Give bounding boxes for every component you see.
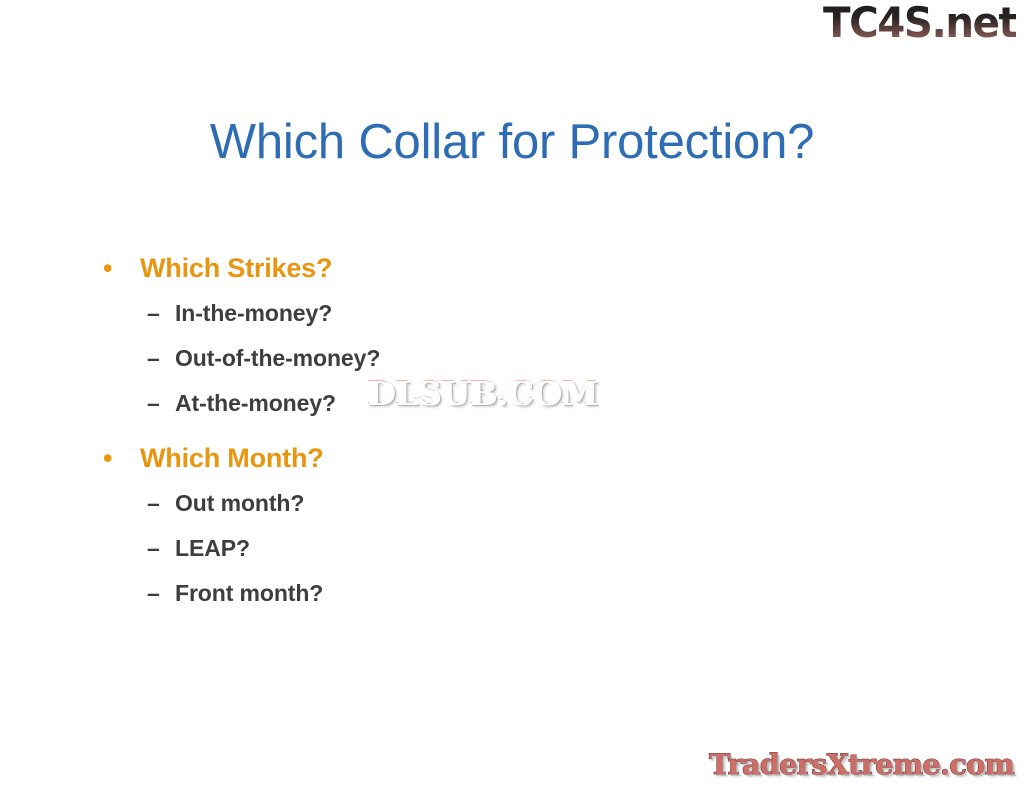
bullet-dash-icon: – <box>147 291 165 336</box>
bullet-heading-which-month: • Which Month? <box>0 435 1024 481</box>
presentation-slide: TC4S.net Which Collar for Protection? • … <box>0 0 1024 791</box>
bullet-dash-icon: – <box>147 526 165 571</box>
list-item: – In-the-money? <box>0 291 1024 336</box>
bullet-dash-icon: – <box>147 336 165 381</box>
tc4s-brand-logo: TC4S.net <box>823 0 1016 46</box>
dlsub-watermark: DLSUB.COM <box>366 374 597 412</box>
bullet-list: • Which Strikes? – In-the-money? – Out-o… <box>0 245 1024 616</box>
bullet-heading-which-strikes: • Which Strikes? <box>0 245 1024 291</box>
bullet-dash-icon: – <box>147 481 165 526</box>
list-item-label: Front month? <box>175 580 323 606</box>
tradersxtreme-watermark: TradersXtreme.com <box>709 748 1014 782</box>
list-item-label: In-the-money? <box>175 300 332 326</box>
group-spacer <box>0 426 1024 435</box>
list-item-label: Out month? <box>175 490 304 516</box>
list-item-label: At-the-money? <box>175 390 336 416</box>
list-item: – LEAP? <box>0 526 1024 571</box>
list-item: – Out month? <box>0 481 1024 526</box>
page-title: Which Collar for Protection? <box>0 113 1024 171</box>
list-item-label: Out-of-the-money? <box>175 345 380 371</box>
bullet-dash-icon: – <box>147 381 165 426</box>
bullet-dot-icon: • <box>103 245 117 291</box>
bullet-dot-icon: • <box>103 435 117 481</box>
list-item: – Front month? <box>0 571 1024 616</box>
list-item-label: LEAP? <box>175 535 250 561</box>
bullet-heading-label: Which Month? <box>140 443 324 473</box>
bullet-dash-icon: – <box>147 571 165 616</box>
dlsub-watermark-label: DLSUB.COM <box>366 373 597 412</box>
bullet-heading-label: Which Strikes? <box>140 253 332 283</box>
